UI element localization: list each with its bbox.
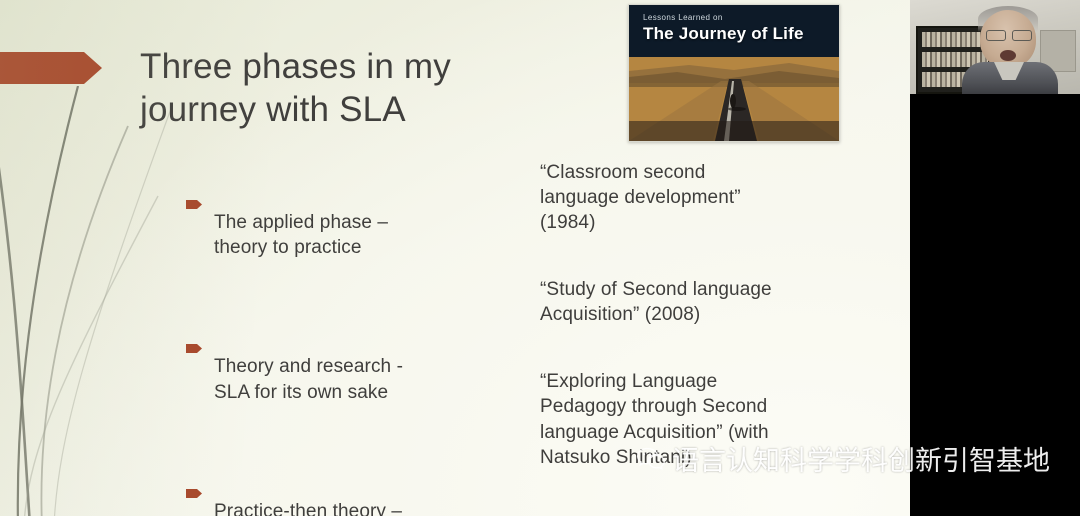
bullet-item: The applied phase – theory to practice <box>186 160 486 260</box>
participant-video-tile[interactable] <box>910 0 1080 94</box>
bullet-item: Practice-then theory – SLA as a pedagogi… <box>186 449 486 516</box>
bullet-text: Practice-then theory – SLA as a pedagogi… <box>214 501 402 516</box>
publication-list: “Classroom second language development” … <box>540 160 870 512</box>
arrow-bullet-icon <box>186 311 203 361</box>
accent-arrow-banner <box>0 48 104 88</box>
desert-road-photo <box>629 57 839 141</box>
arrow-bullet-icon <box>186 456 203 506</box>
arrow-bullet-icon <box>186 167 203 217</box>
participant-mouth <box>1000 50 1016 61</box>
bullet-text: The applied phase – theory to practice <box>214 212 388 258</box>
screen-share-view: Three phases in my journey with SLA <box>0 0 1080 516</box>
glasses-icon <box>986 30 1032 39</box>
header-image: Lessons Learned on The Journey of Life <box>628 4 840 142</box>
video-panel <box>910 0 1080 516</box>
publication-item: “Study of Second language Acquisition” (… <box>540 277 870 327</box>
bullet-text: Theory and research - SLA for its own sa… <box>214 356 403 402</box>
header-image-caption-small: Lessons Learned on <box>643 13 723 22</box>
bullet-list: The applied phase – theory to practice T… <box>186 160 486 516</box>
publication-item: “Exploring Language Pedagogy through Sec… <box>540 369 870 469</box>
publication-item: “Classroom second language development” … <box>540 160 870 235</box>
bullet-item: Theory and research - SLA for its own sa… <box>186 304 486 404</box>
header-image-caption-large: The Journey of Life <box>643 24 804 44</box>
presentation-slide: Three phases in my journey with SLA <box>0 0 910 516</box>
slide-title: Three phases in my journey with SLA <box>140 46 560 131</box>
